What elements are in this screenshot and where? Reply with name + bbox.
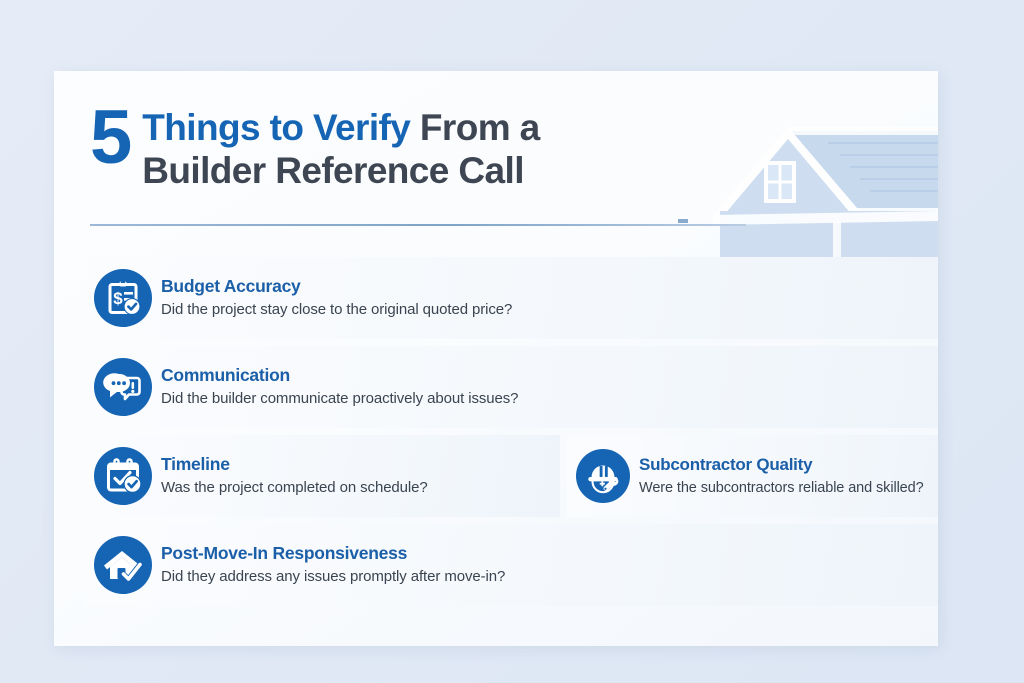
infographic-card: 5 Things to Verify From a Builder Refere… [54,71,938,646]
page-title-line-2: Builder Reference Call [142,150,539,191]
icon-wrap [85,536,161,594]
title-secondary: From a [420,107,540,148]
item-title: Budget Accuracy [161,276,929,296]
item-description: Did the builder communicate proactively … [161,389,929,408]
list-item-subcontractor-quality[interactable]: Subcontractor Quality Were the subcontra… [567,435,938,517]
item-text: Subcontractor Quality Were the subcontra… [639,455,938,497]
hardhat-wrench-icon [576,449,630,503]
checklist-rows: $ Budget Accuracy Did the project [85,257,938,613]
item-text: Timeline Was the project completed on sc… [161,454,560,497]
item-title: Post-Move-In Responsiveness [161,543,929,563]
calendar-check-icon [94,447,152,505]
item-text: Budget Accuracy Did the project stay clo… [161,276,938,319]
icon-wrap [85,358,161,416]
item-description: Was the project completed on schedule? [161,478,550,497]
item-title: Timeline [161,454,550,474]
checklist-row-4: Post-Move-In Responsiveness Did they add… [85,524,938,606]
list-item-communication[interactable]: Communication Did the builder communicat… [85,346,938,428]
title-lines: Things to Verify From a Builder Referenc… [142,103,539,192]
title-emphasis: Things to Verify [142,107,410,148]
big-number-5: 5 [90,101,130,175]
svg-text:$: $ [113,289,123,308]
clipboard-dollar-check-icon: $ [94,269,152,327]
list-item-budget-accuracy[interactable]: $ Budget Accuracy Did the project [85,257,938,339]
item-description: Were the subcontractors reliable and ski… [639,479,929,498]
list-item-timeline[interactable]: Timeline Was the project completed on sc… [85,435,560,517]
title-row: 5 Things to Verify From a Builder Refere… [90,103,790,192]
item-text: Communication Did the builder communicat… [161,365,938,408]
item-description: Did the project stay close to the origin… [161,300,929,319]
icon-wrap: $ [85,269,161,327]
header-divider [90,224,746,226]
checklist-row-2: Communication Did the builder communicat… [85,346,938,428]
item-title: Subcontractor Quality [639,455,929,475]
list-item-post-move-in-responsiveness[interactable]: Post-Move-In Responsiveness Did they add… [85,524,938,606]
house-check-icon [94,536,152,594]
page-title-line-1: Things to Verify From a [142,107,539,148]
icon-wrap [85,447,161,505]
item-title: Communication [161,365,929,385]
checklist-row-3: Timeline Was the project completed on sc… [85,435,938,517]
speech-bubbles-icon [94,358,152,416]
icon-wrap [567,449,639,503]
item-description: Did they address any issues promptly aft… [161,567,929,586]
page-header: 5 Things to Verify From a Builder Refere… [90,103,790,192]
checklist-row-1: $ Budget Accuracy Did the project [85,257,938,339]
item-text: Post-Move-In Responsiveness Did they add… [161,543,938,586]
